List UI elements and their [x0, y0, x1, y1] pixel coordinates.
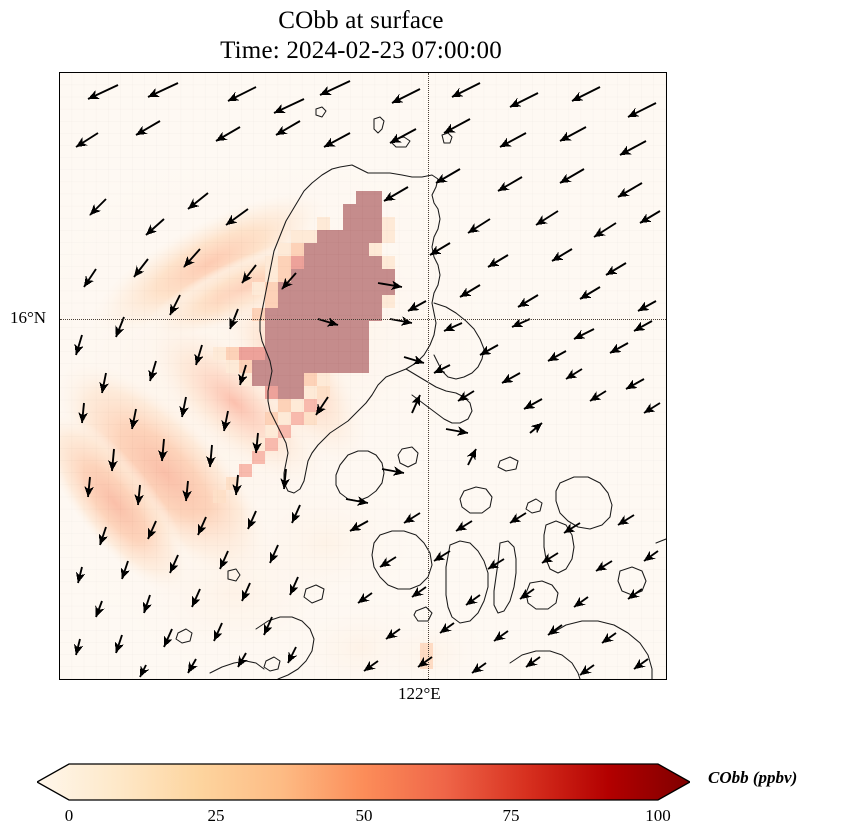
colorbar-gradient	[37, 760, 690, 804]
colorbar-tick-25: 25	[208, 806, 225, 826]
xtick-label-122e: 122°E	[398, 684, 441, 704]
ytick-mark-16n	[59, 319, 60, 320]
map-field-render	[60, 73, 666, 679]
ytick-label-16n: 16°N	[10, 308, 46, 328]
xtick-mark-122e	[428, 679, 429, 680]
colorbar-tick-50: 50	[356, 806, 373, 826]
colorbar-tick-75: 75	[503, 806, 520, 826]
colorbar-tick-100: 100	[645, 806, 671, 826]
colorbar[interactable]: 0 25 50 75 100	[37, 760, 690, 804]
colorbar-axis-label: CObb (ppbv)	[708, 768, 797, 788]
page-title: CObb at surface Time: 2024-02-23 07:00:0…	[0, 6, 722, 66]
title-variable-line: CObb at surface	[0, 6, 722, 36]
colorbar-tick-0: 0	[65, 806, 74, 826]
title-time-line: Time: 2024-02-23 07:00:00	[0, 36, 722, 66]
map-plot-area[interactable]	[59, 72, 667, 680]
